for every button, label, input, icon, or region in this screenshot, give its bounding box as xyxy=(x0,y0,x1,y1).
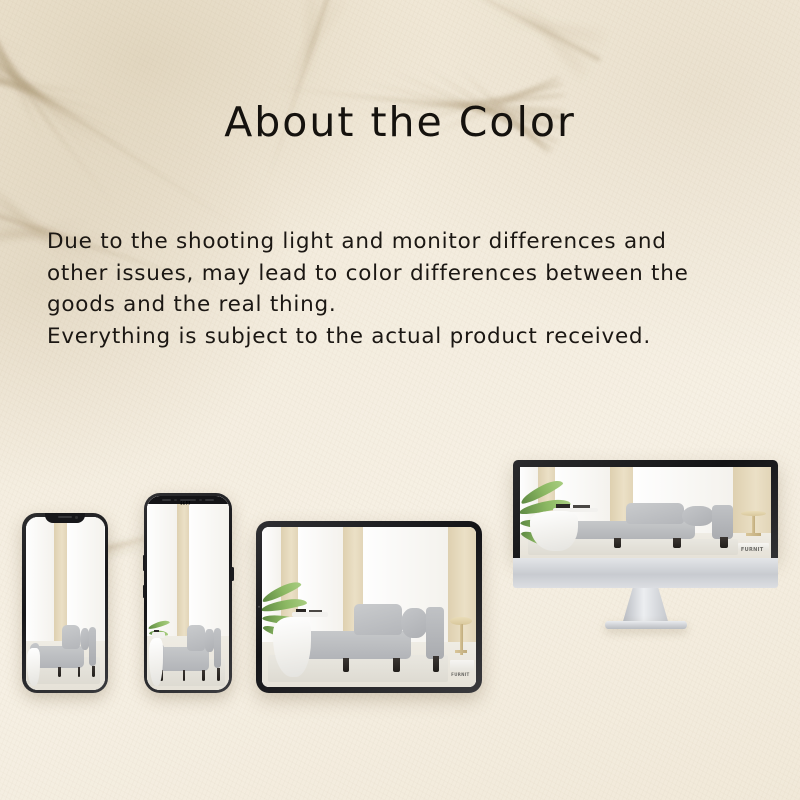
tablet-screen: FURNIT xyxy=(262,527,476,687)
side-button-right xyxy=(231,567,234,581)
camera-icon xyxy=(258,606,260,608)
device-smartphone-notch xyxy=(22,513,108,693)
tray-with-books xyxy=(152,632,165,638)
product-scene-phone2 xyxy=(147,496,229,690)
product-scene-phone1 xyxy=(26,517,105,690)
monitor-screen: FURNIT xyxy=(520,467,771,558)
paragraph-line: goods and the real thing. xyxy=(47,289,761,321)
device-tablet: FURNIT xyxy=(256,521,482,693)
device-smartphone-android xyxy=(144,493,232,693)
paragraph-line: Due to the shooting light and monitor di… xyxy=(47,226,761,258)
sofa-graphic xyxy=(30,624,100,679)
power-button xyxy=(143,585,146,598)
sensor-strip xyxy=(147,496,229,504)
phone-screen xyxy=(26,517,105,690)
paragraph-line: Everything is subject to the actual prod… xyxy=(47,321,761,353)
monitor-stand-base xyxy=(605,621,687,629)
paragraph-line: other issues, may lead to color differen… xyxy=(47,258,761,290)
body-paragraph: Due to the shooting light and monitor di… xyxy=(47,226,761,352)
monitor-panel: FURNIT xyxy=(513,460,778,558)
image-watermark: FURNIT xyxy=(451,672,469,677)
phone-notch xyxy=(45,513,85,523)
device-desktop-monitor: FURNIT xyxy=(513,460,778,695)
volume-button xyxy=(143,555,146,571)
gold-side-table xyxy=(450,617,471,655)
page-title: About the Color xyxy=(0,98,800,146)
product-scene-tablet: FURNIT xyxy=(262,527,476,687)
throw-blanket xyxy=(27,648,40,686)
stacked-books xyxy=(450,660,474,671)
image-watermark: FURNIT xyxy=(741,547,764,553)
product-scene-monitor: FURNIT xyxy=(520,467,771,558)
monitor-chin xyxy=(513,558,778,588)
phone-screen xyxy=(147,496,229,690)
gold-side-table xyxy=(741,511,766,536)
monitor-stand-neck xyxy=(623,588,669,623)
